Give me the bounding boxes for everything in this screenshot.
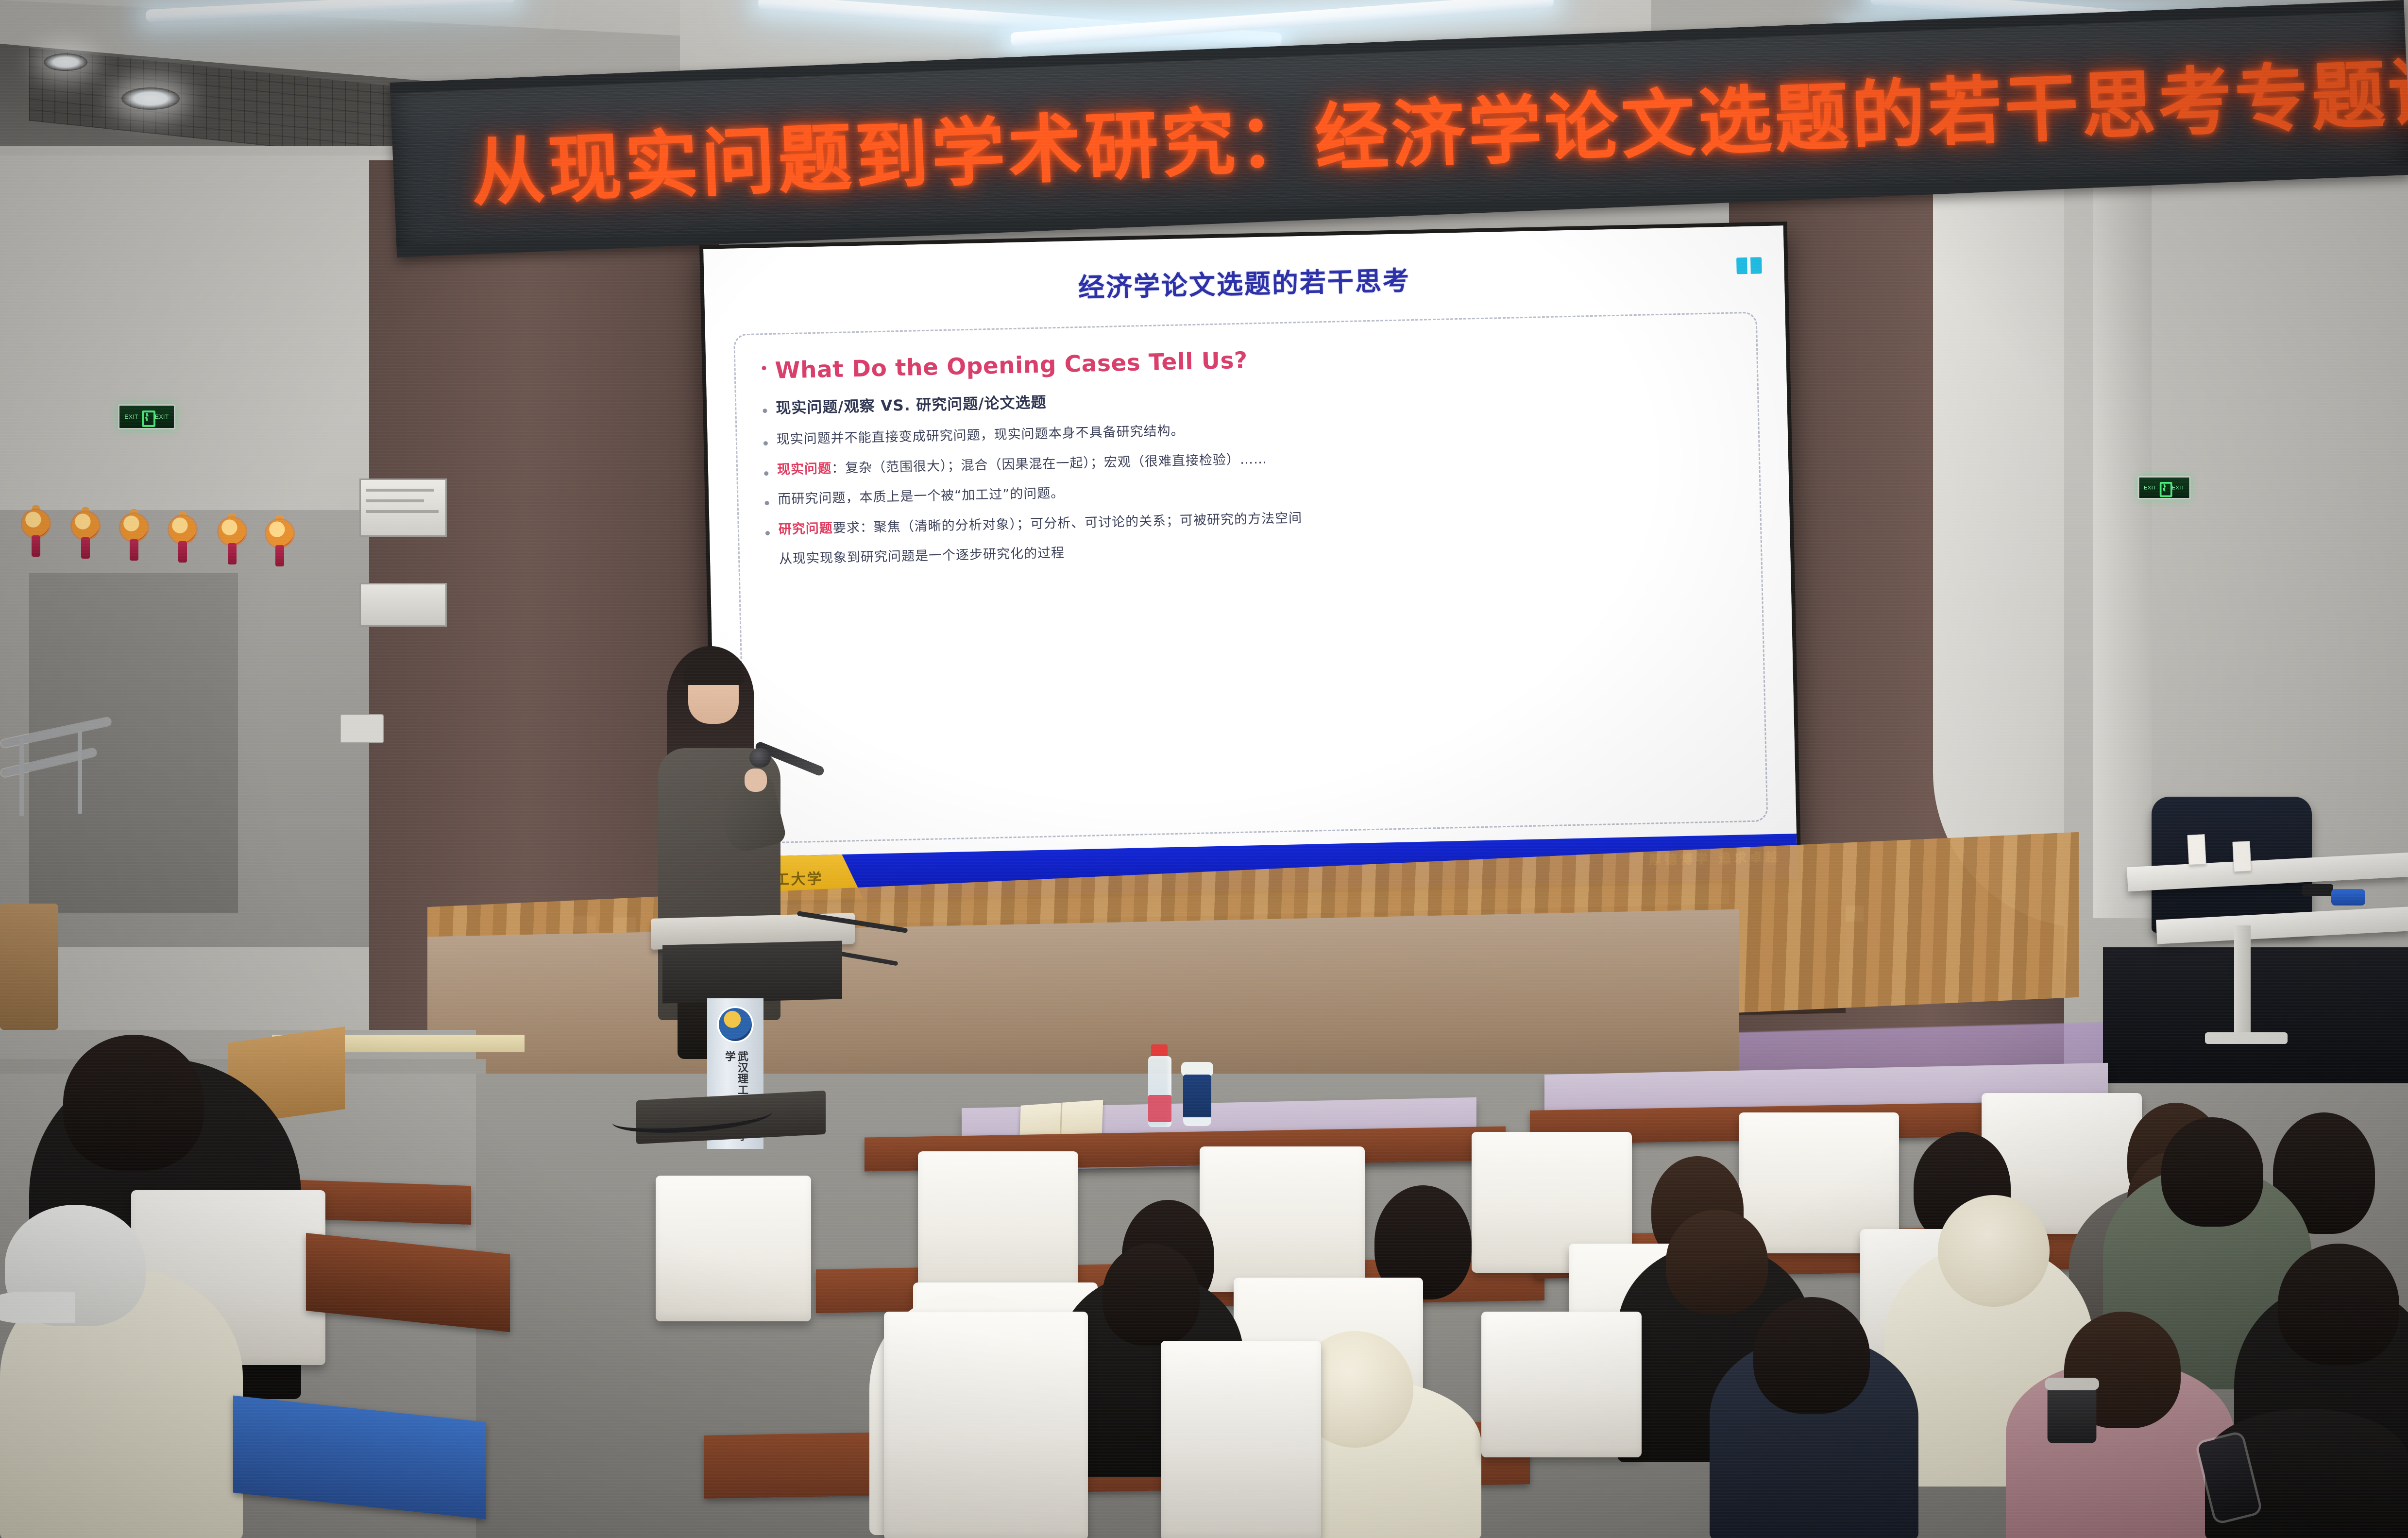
handrail-post	[19, 738, 24, 816]
lantern-disc	[72, 512, 99, 539]
speaker-hand	[745, 769, 767, 792]
equipment-cabinet	[2103, 947, 2408, 1083]
auditorium-seat	[656, 1176, 811, 1321]
audience-head	[63, 1035, 204, 1171]
audience-head	[1102, 1244, 1200, 1346]
lantern-disc	[169, 516, 196, 543]
desk-leg	[2234, 925, 2251, 1037]
ceiling-downlight	[44, 53, 87, 71]
slide-bullet-highlight: 现实问题	[777, 461, 832, 477]
blue-desk-item	[2331, 889, 2365, 906]
chinese-lantern-decoration	[266, 515, 293, 569]
slide-bullet-text: 而研究问题，本质上是一个被“加工过”的问题。	[778, 485, 1065, 508]
handrail-post	[78, 731, 82, 814]
desk-name-card	[2187, 834, 2206, 865]
notice-line	[366, 499, 424, 502]
auditorium-seat	[1481, 1312, 1642, 1457]
desk-base	[2205, 1032, 2288, 1044]
remote-control[interactable]	[2302, 884, 2333, 896]
auditorium-seat	[884, 1312, 1088, 1538]
wall-panel	[359, 583, 447, 627]
desk-name-card	[2232, 841, 2251, 872]
bullet-dot-icon	[765, 501, 769, 505]
lantern-disc	[120, 514, 148, 541]
slide-title: 经济学论文选题的若干思考	[723, 251, 1765, 312]
emergency-exit-sign-right: EXIT EXIT	[2138, 476, 2191, 499]
slide-bullet-highlight: 研究问题	[778, 521, 833, 537]
lantern-tassel	[81, 537, 90, 559]
bullet-dot-icon	[764, 471, 768, 476]
lantern-tassel	[228, 543, 237, 564]
exit-sign-label-left: EXIT	[2144, 485, 2156, 491]
audience-fur-hat	[1938, 1195, 2050, 1307]
exit-sign-label-right: EXIT	[155, 413, 169, 420]
audience-head	[2161, 1117, 2263, 1227]
chinese-lantern-decoration	[120, 509, 148, 564]
exit-sign-label-left: EXIT	[124, 413, 138, 420]
slide-bullet-text: 现实问题并不能直接变成研究问题，现实问题本身不具备研究结构。	[776, 422, 1185, 448]
bullet-dot-icon	[762, 366, 766, 370]
lectern-body	[662, 940, 842, 1003]
slide-bullet-text: 现实问题/观察 VS. 研究问题/论文选题	[776, 393, 1047, 419]
chinese-lantern-decoration	[22, 505, 50, 560]
water-bottle	[1147, 1044, 1172, 1127]
presentation-slide: 经济学论文选题的若干思考 What Do the Opening Cases T…	[703, 225, 1798, 902]
chinese-lantern-decoration	[72, 507, 99, 562]
lantern-disc	[266, 520, 293, 547]
running-person-icon	[140, 410, 153, 424]
slide-bullet-text: 从现实现象到研究问题是一个逐步研究化的过程	[779, 545, 1065, 568]
audience-white-cap	[5, 1205, 146, 1326]
microphone-head-icon	[749, 748, 771, 768]
bullet-dot-icon	[763, 441, 768, 445]
auditorium-seat	[918, 1151, 1078, 1297]
lantern-tassel	[178, 541, 187, 563]
wooden-chair	[0, 904, 58, 1030]
audience-head	[1753, 1297, 1870, 1414]
lantern-disc	[219, 518, 246, 545]
notice-line	[366, 510, 439, 513]
chinese-lantern-decoration	[219, 513, 246, 567]
tumbler-band	[1183, 1117, 1211, 1126]
travel-tumbler	[1181, 1062, 1213, 1126]
bullet-dot-icon	[765, 531, 770, 535]
projection-screen: 经济学论文选题的若干思考 What Do the Opening Cases T…	[703, 225, 1798, 902]
bullet-dot-icon	[763, 409, 767, 413]
lantern-tassel	[275, 545, 284, 566]
slide-bullet-line: 研究问题要求：聚焦（清晰的分析对象）；可分析、可讨论的关系；可被研究的方法空间	[778, 510, 1302, 538]
exit-sign-label-right: EXIT	[2172, 485, 2185, 491]
right-pillar	[2093, 160, 2152, 918]
lantern-disc	[22, 510, 50, 537]
auditorium-seat	[1161, 1341, 1321, 1538]
slide-bullet-text: What Do the Opening Cases Tell Us?	[775, 345, 1248, 386]
notice-line	[366, 489, 434, 492]
lecture-hall-photo: EXIT EXIT EXIT EXIT 从现实问题到学术研究：经济学论文选题的若…	[0, 0, 2408, 1538]
slide-bullet: 从现实现象到研究问题是一个逐步研究化的过程	[766, 530, 1734, 568]
auditorium-seat	[1200, 1146, 1365, 1292]
lantern-tassel	[130, 539, 138, 561]
ceiling-downlight	[121, 87, 180, 110]
projection-screen-frame: 经济学论文选题的若干思考 What Do the Opening Cases T…	[699, 222, 1801, 906]
drink-cup	[2048, 1386, 2097, 1443]
running-person-icon	[2158, 481, 2170, 495]
slide-bullet: 现实问题/观察 VS. 研究问题/论文选题	[763, 378, 1731, 419]
audience-head	[1666, 1210, 1768, 1314]
slide-content-box: What Do the Opening Cases Tell Us? 现实问题/…	[733, 312, 1768, 844]
bottle-cap	[1151, 1044, 1168, 1057]
slide-bullet-text: 要求：聚焦（清晰的分析对象）；可分析、可讨论的关系；可被研究的方法空间	[832, 511, 1302, 536]
emergency-exit-sign-left: EXIT EXIT	[118, 404, 175, 429]
slide-corner-badge-icon	[1736, 257, 1762, 274]
slide-bullet: What Do the Opening Cases Tell Us?	[762, 335, 1730, 387]
lantern-tassel	[32, 535, 40, 557]
audience-head	[2278, 1244, 2399, 1365]
slide-bullet-text: ：复杂（范围很大）；混合（因果混在一起）；宏观（很难直接检验）……	[831, 451, 1267, 476]
wall-light-switch[interactable]	[340, 714, 384, 743]
slide-bullet-line: 现实问题：复杂（范围很大）；混合（因果混在一起）；宏观（很难直接检验）……	[777, 450, 1268, 478]
chinese-lantern-decoration	[169, 511, 196, 565]
university-crest-icon	[717, 1006, 754, 1043]
bottle-label	[1148, 1095, 1171, 1122]
wall-notice-board	[359, 478, 447, 537]
